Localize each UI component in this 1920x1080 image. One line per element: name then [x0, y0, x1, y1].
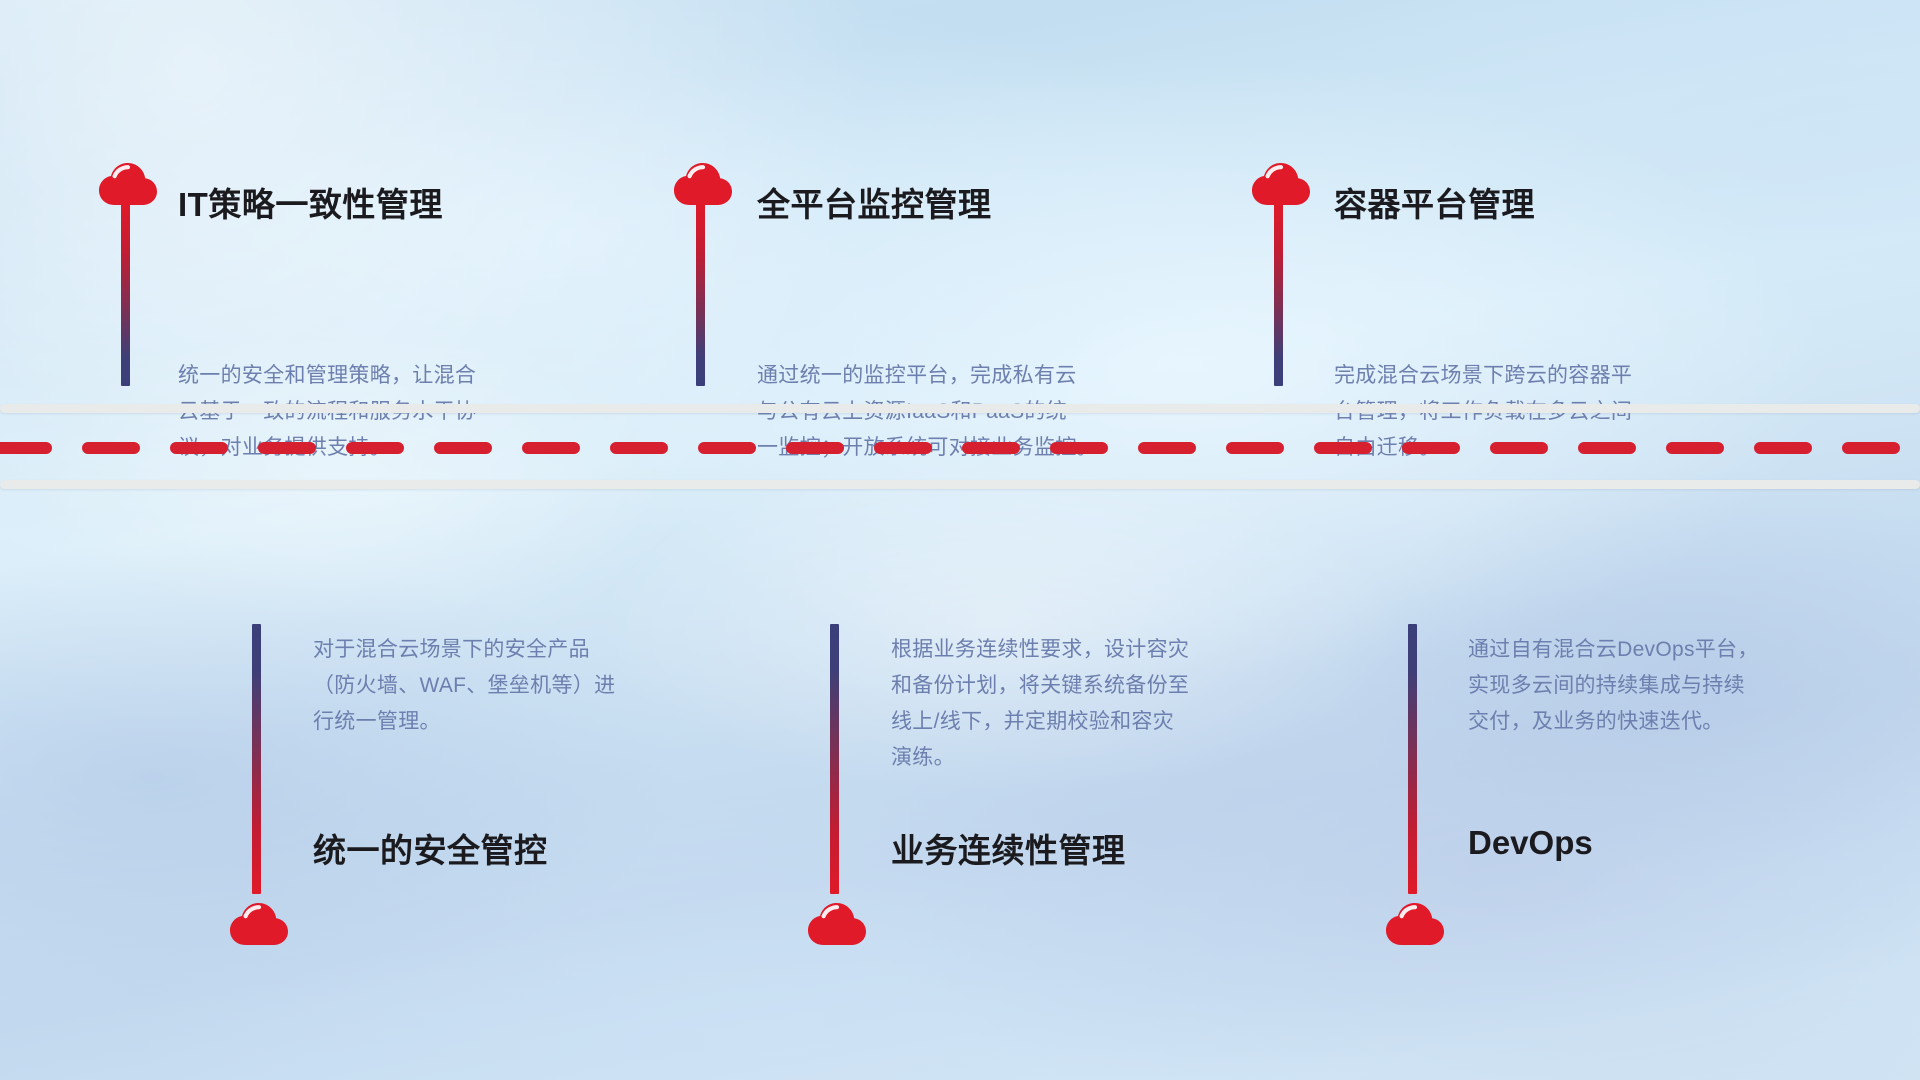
- body-line: 对于混合云场景下的安全产品: [313, 632, 615, 668]
- cloud-icon: [672, 160, 734, 206]
- body-line: 统一的安全和管理策略，让混合: [178, 358, 476, 394]
- body-line: 根据业务连续性要求，设计容灾: [891, 632, 1189, 668]
- bottom-column-1-body: 对于混合云场景下的安全产品 （防火墙、WAF、堡垒机等）进 行统一管理。: [313, 632, 615, 740]
- road-edge-bottom: [0, 480, 1920, 489]
- top-column-1-heading: IT策略一致性管理: [178, 178, 443, 226]
- road-edge-top: [0, 404, 1920, 413]
- cloud-icon: [1250, 160, 1312, 206]
- road-center-dashes: [0, 442, 1920, 454]
- cloud-icon: [97, 160, 159, 206]
- bottom-column-3-body: 通过自有混合云DevOps平台， 实现多云间的持续集成与持续 交付，及业务的快速…: [1468, 632, 1759, 740]
- body-line: （防火墙、WAF、堡垒机等）进: [313, 668, 615, 704]
- cloud-icon: [1384, 900, 1446, 946]
- bottom-column-2-heading: 业务连续性管理: [891, 824, 1126, 872]
- connector-stem: [1274, 204, 1283, 386]
- connector-stem: [252, 624, 261, 894]
- cloud-icon: [228, 900, 290, 946]
- connector-stem: [696, 204, 705, 386]
- body-line: 行统一管理。: [313, 704, 615, 740]
- cloud-icon: [806, 900, 868, 946]
- body-line: 交付，及业务的快速迭代。: [1468, 704, 1759, 740]
- bottom-column-2-body: 根据业务连续性要求，设计容灾 和备份计划，将关键系统备份至 线上/线下，并定期校…: [891, 632, 1189, 776]
- body-line: 通过自有混合云DevOps平台，: [1468, 632, 1759, 668]
- body-line: 和备份计划，将关键系统备份至: [891, 668, 1189, 704]
- infographic-canvas: IT策略一致性管理 统一的安全和管理策略，让混合 云基于一致的流程和服务水平协 …: [0, 0, 1920, 1080]
- connector-stem: [121, 204, 130, 386]
- body-line: 通过统一的监控平台，完成私有云: [757, 358, 1098, 394]
- bottom-column-3-heading: DevOps: [1468, 824, 1593, 862]
- connector-stem: [830, 624, 839, 894]
- road-divider: [0, 400, 1920, 492]
- body-line: 线上/线下，并定期校验和容灾: [891, 704, 1189, 740]
- bottom-column-1-heading: 统一的安全管控: [313, 824, 548, 872]
- top-column-2-heading: 全平台监控管理: [757, 178, 992, 226]
- body-line: 完成混合云场景下跨云的容器平: [1334, 358, 1632, 394]
- body-line: 演练。: [891, 740, 1189, 776]
- body-line: 实现多云间的持续集成与持续: [1468, 668, 1759, 704]
- top-column-3-heading: 容器平台管理: [1334, 178, 1535, 226]
- connector-stem: [1408, 624, 1417, 894]
